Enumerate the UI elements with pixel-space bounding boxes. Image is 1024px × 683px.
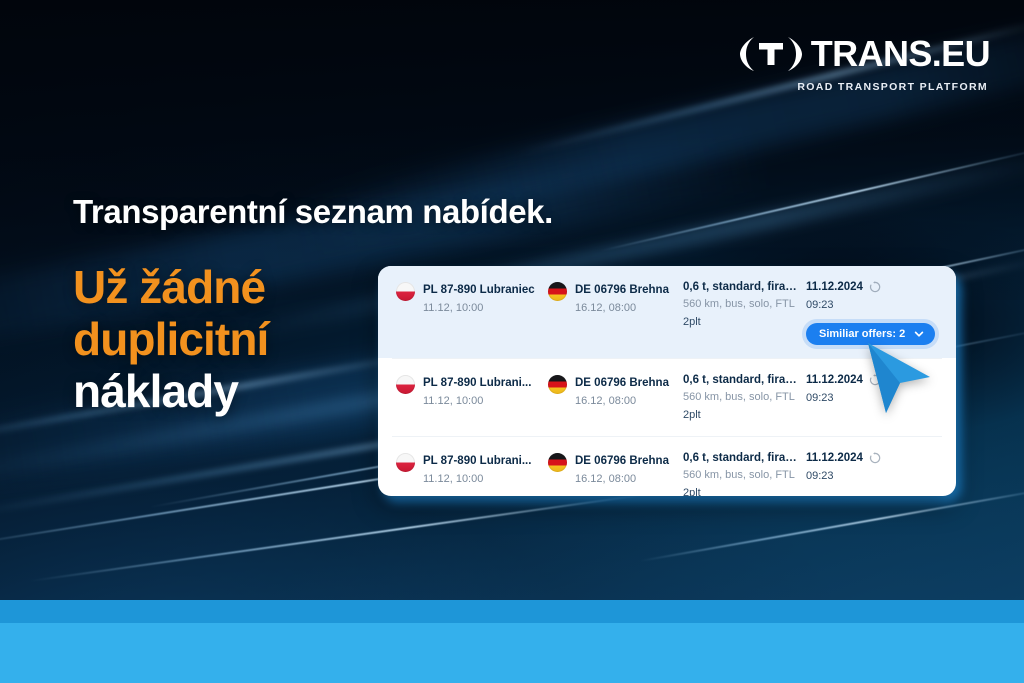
headline-line-2: Už žádné <box>73 262 268 314</box>
cargo-spec-main: 0,6 t, standard, firanka, 5,3 ... <box>683 373 800 387</box>
flag-de-icon <box>548 282 567 301</box>
flag-pl-icon <box>396 375 415 394</box>
headline-secondary: Už žádné duplicitní náklady <box>73 262 268 418</box>
cargo-spec-cell: 0,6 t, standard, firanka, 5,3 ... 560 km… <box>683 451 806 496</box>
flag-de-icon <box>548 453 567 472</box>
origin-datetime: 11.12, 10:00 <box>423 395 483 407</box>
destination-datetime: 16.12, 08:00 <box>575 395 636 407</box>
offer-time: 09:23 <box>806 391 938 406</box>
bottom-bar <box>0 623 1024 683</box>
offers-card-wrapper: PL 87-890 Lubraniec 11.12, 10:00 DE 0679… <box>378 266 956 496</box>
offer-time: 09:23 <box>806 298 938 313</box>
flag-pl-icon <box>396 282 415 301</box>
cargo-pallets: 2plt <box>683 486 800 496</box>
flag-de-icon <box>548 375 567 394</box>
cargo-spec-sub: 560 km, bus, solo, FTL <box>683 297 800 312</box>
cargo-spec-sub: 560 km, bus, solo, FTL <box>683 390 800 405</box>
cargo-pallets: 2plt <box>683 315 800 330</box>
flag-pl-icon <box>396 453 415 472</box>
destination-name: DE 06796 Brehna <box>575 377 669 389</box>
similar-offers-label: Similiar offers: 2 <box>819 328 905 340</box>
similar-offers-button[interactable]: Similiar offers: 2 <box>806 323 935 345</box>
refresh-icon <box>869 281 881 293</box>
t-emblem-icon <box>734 33 808 75</box>
origin-cell: PL 87-890 Lubrani... 11.12, 10:00 <box>396 451 548 487</box>
offers-card: PL 87-890 Lubraniec 11.12, 10:00 DE 0679… <box>378 266 956 496</box>
cargo-spec-cell: 0,6 t, standard, firanka, 5,3 ... 560 km… <box>683 373 806 423</box>
destination-cell: DE 06796 Brehna 16.12, 08:00 <box>548 451 683 487</box>
origin-name: PL 87-890 Lubrani... <box>423 377 531 389</box>
destination-name: DE 06796 Brehna <box>575 284 669 296</box>
cargo-spec-main: 0,6 t, standard, firanka, 5,3 ... <box>683 451 800 465</box>
brand-logo: TRANS.EU ROAD TRANSPORT PLATFORM <box>734 33 990 93</box>
cargo-spec-sub: 560 km, bus, solo, FTL <box>683 468 800 483</box>
destination-cell: DE 06796 Brehna 16.12, 08:00 <box>548 280 683 316</box>
chevron-down-icon <box>914 329 924 339</box>
headline-line-3: duplicitní <box>73 314 268 366</box>
brand-tagline: ROAD TRANSPORT PLATFORM <box>797 81 988 93</box>
destination-name: DE 06796 Brehna <box>575 455 669 467</box>
meta-cell: 11.12.2024 09:23 <box>806 373 938 407</box>
table-row[interactable]: PL 87-890 Lubrani... 11.12, 10:00 DE 067… <box>378 437 956 496</box>
offer-date: 11.12.2024 <box>806 280 863 294</box>
table-row[interactable]: PL 87-890 Lubrani... 11.12, 10:00 DE 067… <box>378 359 956 436</box>
origin-name: PL 87-890 Lubrani... <box>423 455 531 467</box>
headline-primary: Transparentní seznam nabídek. <box>73 194 553 230</box>
origin-name: PL 87-890 Lubraniec <box>423 284 535 296</box>
brand-name: TRANS.EU <box>811 36 990 72</box>
origin-cell: PL 87-890 Lubrani... 11.12, 10:00 <box>396 373 548 409</box>
refresh-icon <box>869 452 881 464</box>
cargo-pallets: 2plt <box>683 408 800 423</box>
meta-cell: 11.12.2024 09:23 Similiar offers: 2 <box>806 280 938 345</box>
refresh-icon <box>869 374 881 386</box>
table-row[interactable]: PL 87-890 Lubraniec 11.12, 10:00 DE 0679… <box>378 266 956 358</box>
cargo-spec-cell: 0,6 t, standard, firanka, 5,3 l... 560 k… <box>683 280 806 330</box>
destination-datetime: 16.12, 08:00 <box>575 302 636 314</box>
bottom-bar-accent <box>0 600 1024 623</box>
offer-time: 09:23 <box>806 469 938 484</box>
headline-line-4: náklady <box>73 366 268 418</box>
offer-date: 11.12.2024 <box>806 451 863 465</box>
destination-datetime: 16.12, 08:00 <box>575 473 636 485</box>
cargo-spec-main: 0,6 t, standard, firanka, 5,3 l... <box>683 280 800 294</box>
promo-banner: TRANS.EU ROAD TRANSPORT PLATFORM Transpa… <box>0 0 1024 683</box>
offer-date: 11.12.2024 <box>806 373 863 387</box>
meta-cell: 11.12.2024 09:23 <box>806 451 938 485</box>
origin-datetime: 11.12, 10:00 <box>423 473 483 485</box>
origin-datetime: 11.12, 10:00 <box>423 302 483 314</box>
destination-cell: DE 06796 Brehna 16.12, 08:00 <box>548 373 683 409</box>
origin-cell: PL 87-890 Lubraniec 11.12, 10:00 <box>396 280 548 316</box>
